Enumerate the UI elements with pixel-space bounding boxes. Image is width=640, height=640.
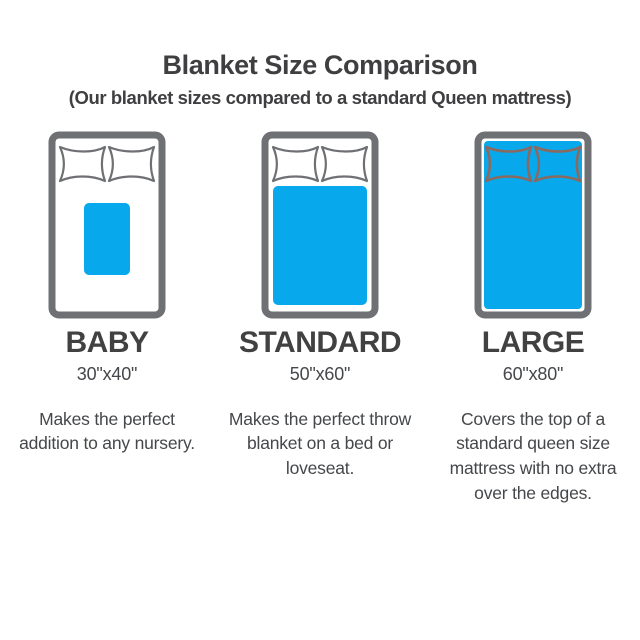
pillow-right-icon	[109, 147, 154, 181]
size-name-baby: BABY	[65, 327, 148, 359]
blanket-size-comparison-infographic: Blanket Size Comparison (Our blanket siz…	[0, 0, 640, 640]
bed-diagram-baby	[27, 131, 187, 321]
size-dimensions-standard: 50"x60"	[290, 365, 350, 385]
queen-mattress-with-two-pillows-icon	[474, 131, 592, 321]
page-subtitle: (Our blanket sizes compared to a standar…	[0, 87, 640, 109]
page-title: Blanket Size Comparison	[0, 50, 640, 81]
size-dimensions-large: 60"x80"	[503, 365, 563, 385]
description-large: Covers the top of a standard queen size …	[435, 407, 631, 506]
pillow-right-icon	[322, 147, 367, 181]
description-standard: Makes the perfect throw blanket on a bed…	[222, 407, 418, 482]
size-name-large: LARGE	[482, 327, 585, 359]
pillow-left-icon	[60, 147, 105, 181]
comparison-column-large: LARGE 60"x80" Covers the top of a standa…	[427, 131, 640, 506]
comparison-columns: BABY 30"x40" Makes the perfect addition …	[0, 131, 640, 506]
size-name-standard: STANDARD	[239, 327, 401, 359]
description-baby: Makes the perfect addition to any nurser…	[9, 407, 205, 457]
bed-diagram-large	[453, 131, 613, 321]
queen-mattress-with-two-pillows-icon	[48, 131, 166, 321]
large-blanket-overlay-icon	[484, 141, 582, 309]
size-dimensions-baby: 30"x40"	[77, 365, 137, 385]
header: Blanket Size Comparison (Our blanket siz…	[0, 0, 640, 109]
bed-diagram-standard	[240, 131, 400, 321]
baby-blanket-overlay-icon	[84, 203, 130, 275]
pillow-left-icon	[273, 147, 318, 181]
comparison-column-standard: STANDARD 50"x60" Makes the perfect throw…	[214, 131, 427, 481]
standard-blanket-overlay-icon	[273, 186, 367, 305]
comparison-column-baby: BABY 30"x40" Makes the perfect addition …	[1, 131, 214, 456]
queen-mattress-with-two-pillows-icon	[261, 131, 379, 321]
